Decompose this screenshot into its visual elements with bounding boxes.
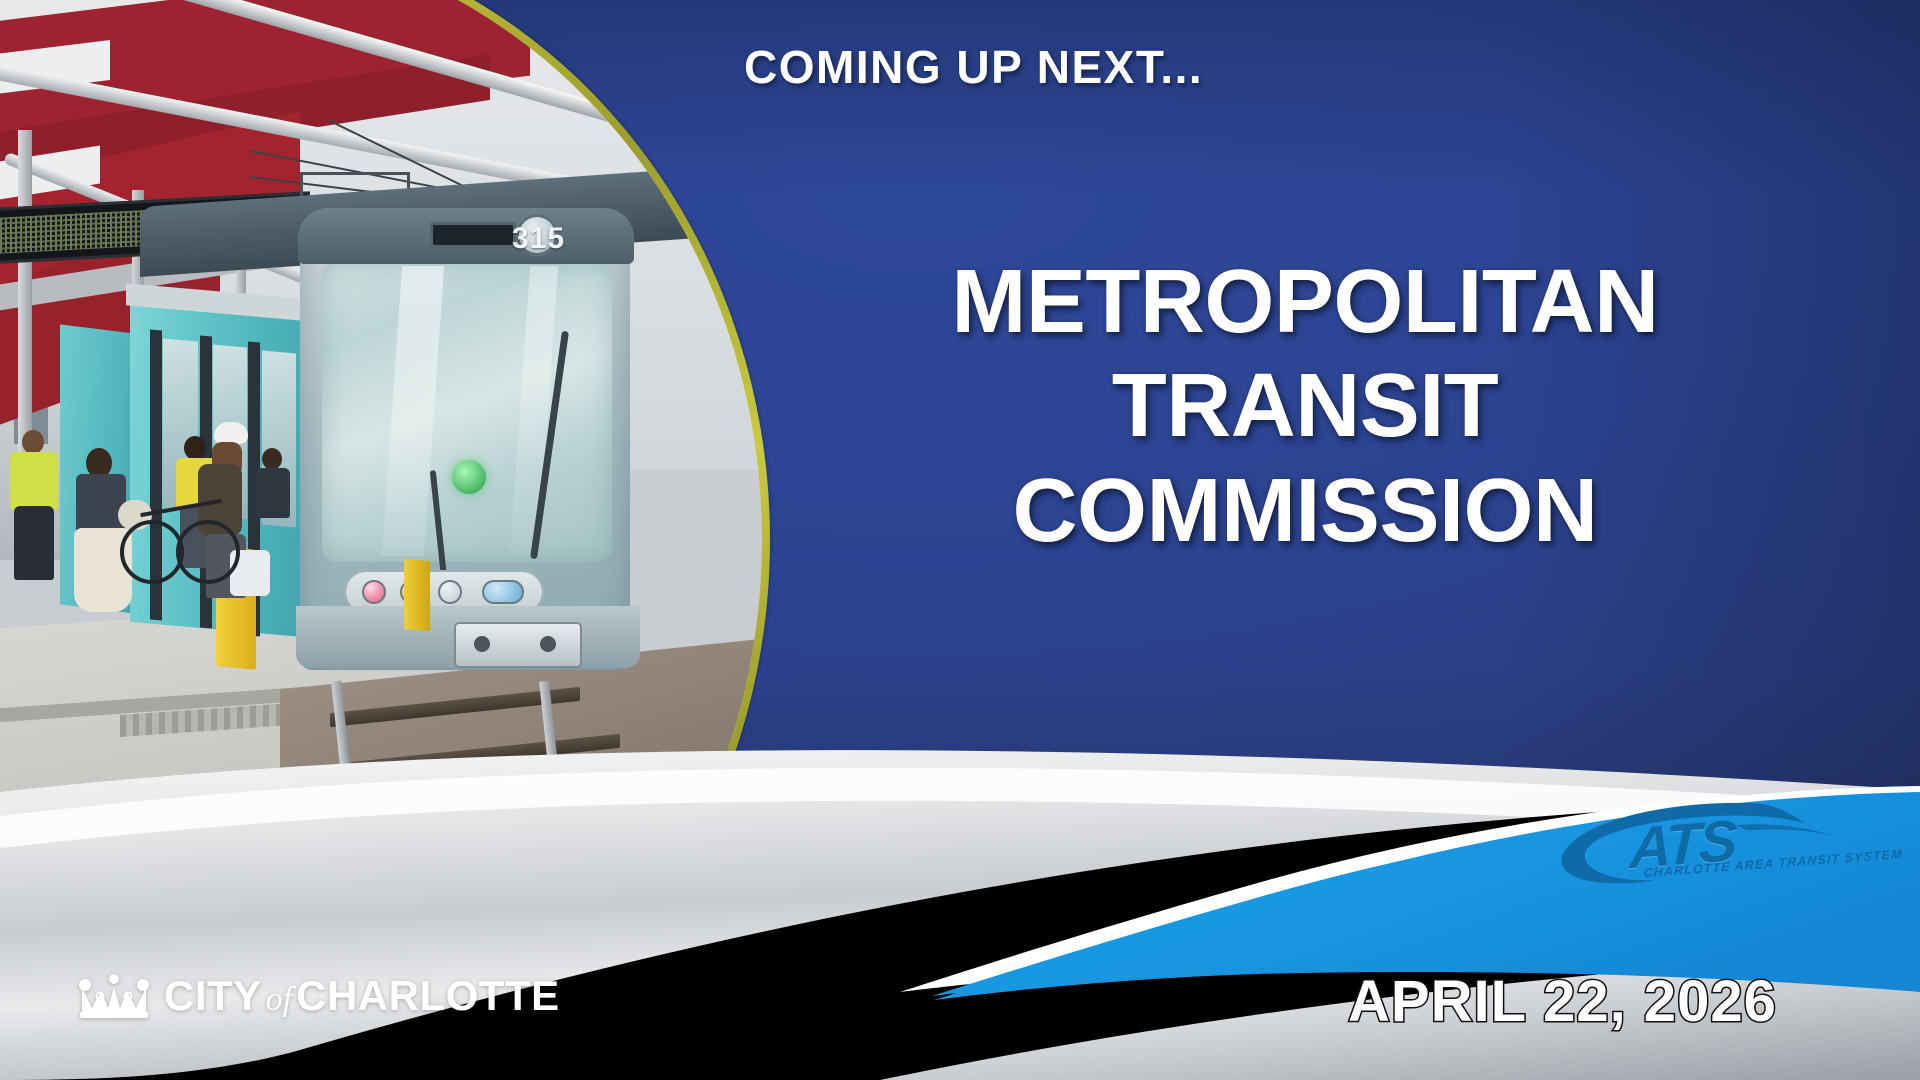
city-of-charlotte-logo: CITYofCHARLOTTE — [78, 972, 560, 1020]
photo-bicycle — [120, 520, 184, 584]
photo-train-windshield — [322, 262, 612, 562]
photo-train-grille — [430, 222, 516, 248]
title-line-2: TRANSIT — [760, 354, 1850, 458]
photo-train-lamp — [438, 580, 462, 604]
title-line-3: COMMISSION — [760, 459, 1850, 563]
photo-bicycle — [176, 520, 240, 584]
coming-up-next-kicker: COMING UP NEXT... — [744, 40, 1203, 94]
coc-of-word: of — [262, 981, 296, 1018]
photo-train-number: 315 — [512, 222, 565, 256]
slide-canvas: 315 — [0, 0, 1920, 1080]
coc-place-word: CHARLOTTE — [296, 972, 559, 1019]
photo-train-lamp — [362, 580, 386, 604]
photo-platform-bumper — [404, 559, 430, 631]
photo-coupler-bolt — [540, 636, 556, 652]
coc-city-word: CITY — [164, 972, 262, 1019]
photo-train-lamp — [482, 580, 524, 604]
photo-coupler-bolt — [474, 636, 490, 652]
city-of-charlotte-wordmark: CITYofCHARLOTTE — [164, 972, 560, 1020]
page-title: METROPOLITAN TRANSIT COMMISSION — [760, 250, 1850, 563]
photo-canopy-post — [18, 130, 32, 460]
event-date: APRIL 22, 2026 — [1348, 968, 1777, 1035]
title-line-1: METROPOLITAN — [760, 250, 1850, 354]
photo-train-green-signal — [452, 460, 486, 494]
crown-icon — [78, 974, 150, 1018]
